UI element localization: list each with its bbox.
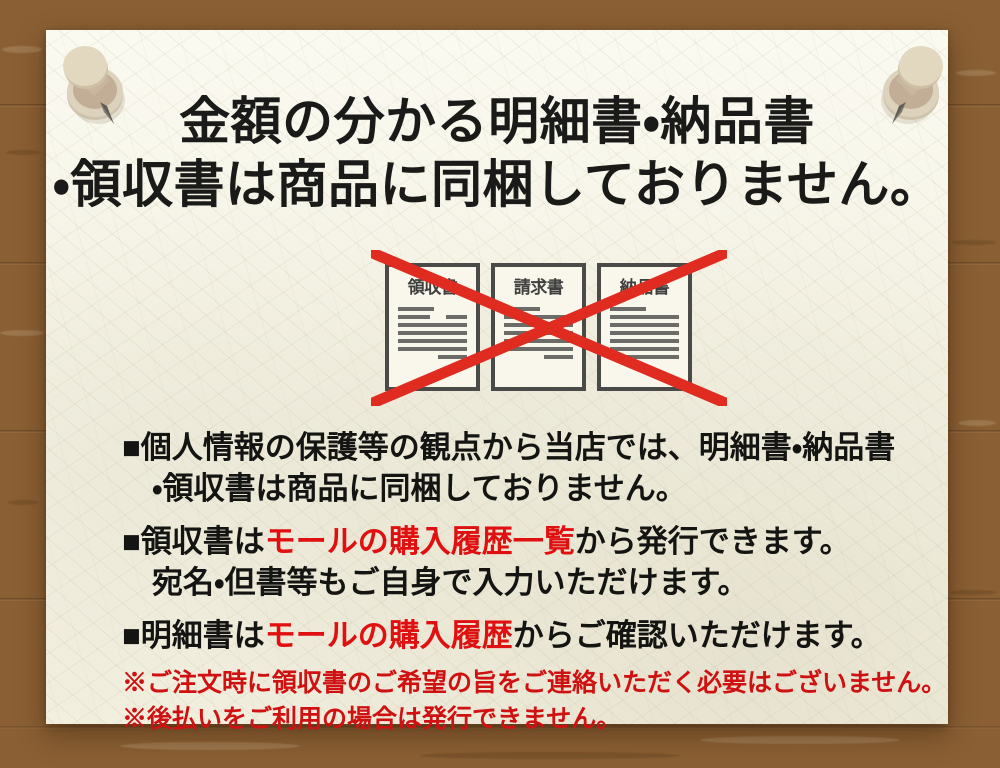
notice-image: 金額の分かる明細書・納品書 ・領収書は商品に同梱しておりません。 領収書 (0, 0, 1000, 768)
doc-line (610, 315, 679, 319)
doc-line (610, 347, 679, 351)
document-icon-invoice: 請求書 (491, 263, 586, 391)
doc-line (398, 339, 467, 343)
document-icons-row: 領収書 請求書 (385, 263, 692, 391)
document-icon-receipt: 領収書 (385, 263, 480, 391)
bullet-2-pre: 領収書は (141, 524, 265, 559)
wood-grain (950, 590, 996, 595)
bullet-1-line1: 個人情報の保護等の観点から当店では、明細書・納品書 (141, 430, 896, 465)
wood-grain (958, 420, 996, 426)
bullet-2-highlight: モールの購入履歴一覧 (265, 524, 575, 559)
bullet-marker: ■ (122, 430, 141, 465)
pushpin-top-left-icon (52, 38, 138, 134)
doc-line (398, 347, 467, 351)
bullet-item-1: ■個人情報の保護等の観点から当店では、明細書・納品書 ・領収書は商品に同梱してお… (122, 428, 942, 510)
footnote-1: ※ご注文時に領収書のご希望の旨をご連絡いただく必要はございません。 (122, 666, 952, 702)
bullet-marker: ■ (122, 618, 141, 653)
doc-line (398, 307, 434, 311)
document-icon-delivery-note: 納品書 (597, 263, 692, 391)
doc-line (504, 307, 540, 311)
doc-line (504, 339, 573, 343)
bullet-2-post: から発行できます。 (575, 524, 851, 559)
doc-line (610, 307, 646, 311)
document-label: 請求書 (504, 280, 573, 297)
notice-footnotes: ※ご注文時に領収書のご希望の旨をご連絡いただく必要はございません。 ※後払いをご… (122, 666, 952, 737)
paper-sheet: 金額の分かる明細書・納品書 ・領収書は商品に同梱しておりません。 領収書 (46, 30, 948, 724)
wood-grain (420, 752, 680, 759)
title-line-2: ・領収書は商品に同梱しておりません。 (46, 155, 948, 218)
footnote-2: ※後払いをご利用の場合は発行できません。 (122, 702, 952, 738)
document-ruled-lines (398, 307, 467, 359)
bullet-3-post: からご確認いただけます。 (513, 618, 882, 653)
doc-line (610, 331, 679, 335)
wood-grain (120, 742, 300, 750)
doc-line (504, 331, 573, 335)
doc-line (504, 323, 573, 327)
doc-line (610, 323, 679, 327)
doc-line (504, 347, 573, 351)
doc-line (398, 331, 467, 335)
bullet-3-highlight: モールの購入履歴 (265, 618, 513, 653)
bullet-item-3: ■明細書はモールの購入履歴からご確認いただけます。 (122, 616, 942, 657)
doc-line (610, 339, 679, 343)
wood-grain (2, 46, 42, 53)
doc-line (398, 315, 467, 319)
wood-grain (6, 150, 40, 155)
wood-grain (700, 736, 900, 744)
bullet-item-2: ■領収書はモールの購入履歴一覧から発行できます。 宛名・但書等もご自身で入力いた… (122, 522, 942, 604)
doc-line (438, 355, 467, 359)
pushpin-top-right-icon (868, 38, 954, 134)
doc-line (398, 323, 467, 327)
notice-body: ■個人情報の保護等の観点から当店では、明細書・納品書 ・領収書は商品に同梱してお… (122, 428, 942, 663)
wood-grain (0, 330, 44, 336)
wood-grain (8, 500, 38, 505)
notice-title: 金額の分かる明細書・納品書 ・領収書は商品に同梱しておりません。 (46, 92, 948, 218)
title-line-1: 金額の分かる明細書・納品書 (46, 92, 948, 155)
bullet-1-line2: ・領収書は商品に同梱しておりません。 (122, 469, 942, 510)
wood-grain (956, 70, 996, 76)
bullet-2-line2: 宛名・但書等もご自身で入力いただけます。 (122, 563, 942, 604)
bullet-marker: ■ (122, 524, 141, 559)
doc-line (610, 355, 679, 359)
document-label: 納品書 (610, 280, 679, 297)
doc-line (544, 355, 573, 359)
document-ruled-lines (504, 307, 573, 359)
document-label: 領収書 (398, 280, 467, 297)
bullet-3-pre: 明細書は (141, 618, 265, 653)
documents-illustration: 領収書 請求書 (371, 250, 727, 406)
document-ruled-lines (610, 307, 679, 359)
wood-grain (952, 240, 996, 245)
doc-line (504, 315, 573, 319)
